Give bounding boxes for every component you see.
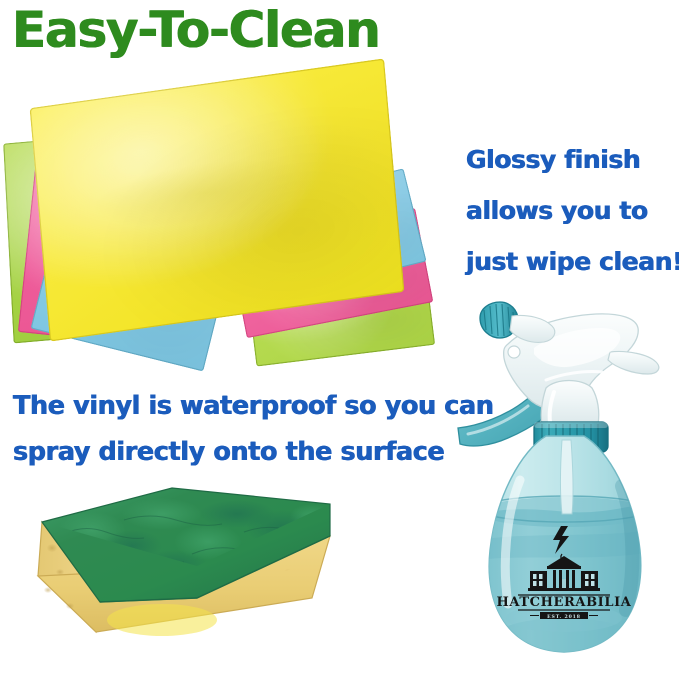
infographic-canvas: Easy-To-Clean Glossy finish allows you t… — [0, 0, 679, 674]
copy-line: allows you to — [466, 185, 679, 236]
sprayer-pivot-screw — [508, 346, 520, 358]
copy-line: just wipe clean! — [466, 236, 679, 287]
brand-wordmark: HATCHERABILIA — [497, 595, 632, 610]
sponge-illustration — [12, 480, 342, 655]
copy-line: Glossy finish — [466, 134, 679, 185]
copy-line: spray directly onto the surface — [13, 429, 463, 475]
waterproof-copy: The vinyl is waterproof so you can spray… — [13, 383, 463, 475]
cloth-stack-illustration — [0, 75, 462, 360]
spray-bottle-illustration: HATCHERABILIA EST. 2018 — [450, 300, 679, 674]
glossy-finish-copy: Glossy finish allows you to just wipe cl… — [466, 134, 679, 287]
sprayer-rear-fin — [608, 351, 659, 374]
brand-tagline: EST. 2018 — [547, 614, 581, 620]
page-title: Easy-To-Clean — [12, 2, 380, 58]
dip-tube — [561, 440, 574, 514]
copy-line: The vinyl is waterproof so you can — [13, 383, 463, 429]
